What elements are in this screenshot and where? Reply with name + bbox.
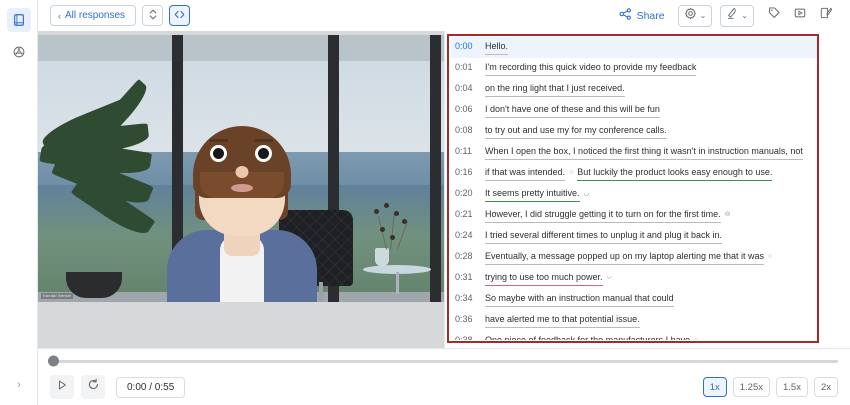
room-ceiling (38, 35, 445, 61)
transcript-timestamp: 0:34 (455, 293, 485, 303)
transcript-row[interactable]: 0:04on the ring light that I just receiv… (451, 79, 817, 100)
transcript-segment[interactable]: However, I did struggle getting it to tu… (485, 209, 721, 223)
prev-next-horizontal-button[interactable] (169, 5, 190, 26)
edit-icon (819, 6, 833, 25)
transcript-timestamp: 0:36 (455, 314, 485, 324)
speed-button-1.5x[interactable]: 1.5x (776, 377, 808, 397)
berry (384, 203, 389, 208)
transcript-segment[interactable]: trying to use too much power. (485, 272, 603, 286)
chair-leg (319, 282, 323, 302)
transcript-row[interactable]: 0:34So maybe with an instruction manual … (451, 289, 817, 310)
play-button[interactable] (50, 375, 74, 399)
transcript-row[interactable]: 0:31trying to use too much power.⌵ (451, 268, 817, 289)
avatar-brow-right (254, 139, 273, 142)
transcript-segment[interactable]: But luckily the product looks easy enoug… (577, 167, 772, 181)
transcript-segment[interactable]: have alerted me to that potential issue. (485, 314, 640, 328)
main-area: Kandai Sensei 0:00Hello.0:01I'm recordin… (38, 31, 850, 348)
transcript-row[interactable]: 0:06I don't have one of these and this w… (451, 100, 817, 121)
transcript-segment[interactable]: Eventually, a message popped up on my la… (485, 251, 764, 265)
video-canvas[interactable]: Kandai Sensei (38, 35, 445, 302)
app-root: › ‹ All responses (0, 0, 850, 405)
share-icon (619, 8, 632, 23)
sentiment-icon[interactable]: ⌵ (607, 274, 612, 282)
sentiment-icon[interactable]: ◡ (584, 189, 590, 197)
transcript-row[interactable]: 0:16if that was intended.○But luckily th… (451, 163, 817, 184)
transcript-text: When I open the box, I noticed the first… (485, 146, 803, 160)
left-rail: › (0, 0, 38, 405)
playback-speed-group: 1x1.25x1.5x2x (703, 377, 838, 397)
chevron-leftright-icon (173, 10, 186, 22)
settings-dropdown-button[interactable]: ⌄ (678, 5, 713, 27)
transcript-segment[interactable]: I'm recording this quick video to provid… (485, 62, 696, 76)
transcript-text: Eventually, a message popped up on my la… (485, 251, 772, 265)
sentiment-icon[interactable]: ○ (569, 169, 573, 176)
seek-handle[interactable] (48, 356, 59, 367)
transcript-text: So maybe with an instruction manual that… (485, 293, 674, 307)
transcript-row[interactable]: 0:11When I open the box, I noticed the f… (451, 142, 817, 163)
tag-button[interactable] (762, 5, 786, 27)
tag-icon (767, 6, 781, 25)
transcript-timestamp: 0:04 (455, 83, 485, 93)
clip-button[interactable] (788, 5, 812, 27)
notebook-icon (12, 13, 26, 27)
rail-collapse-button[interactable]: › (11, 377, 27, 393)
transcript-row[interactable]: 0:24I tried several different times to u… (451, 226, 817, 247)
transcript-text: if that was intended.○But luckily the pr… (485, 167, 772, 181)
transcript-text: However, I did struggle getting it to tu… (485, 209, 731, 223)
seek-row (50, 355, 838, 367)
transcript-row[interactable]: 0:01I'm recording this quick video to pr… (451, 58, 817, 79)
back-chevron-icon: ‹ (58, 11, 61, 21)
transcript-text: One piece of feedback for the manufactur… (485, 335, 698, 340)
transcript-text: I tried several different times to unplu… (485, 230, 722, 244)
window-mullion-3 (430, 35, 441, 302)
transcript-timestamp: 0:38 (455, 335, 485, 340)
transcript-segment[interactable]: Hello. (485, 41, 508, 55)
speed-button-2x[interactable]: 2x (814, 377, 838, 397)
transcript-row[interactable]: 0:38One piece of feedback for the manufa… (451, 331, 817, 340)
video-watermark: Kandai Sensei (41, 293, 73, 299)
seek-bar[interactable] (50, 360, 838, 363)
all-responses-label: All responses (65, 10, 125, 21)
transcript-timestamp: 0:31 (455, 272, 485, 282)
chevron-down-icon: ⌄ (700, 11, 707, 20)
transcript-row[interactable]: 0:36have alerted me to that potential is… (451, 310, 817, 331)
transcript-timestamp: 0:00 (455, 41, 485, 51)
speed-button-1x[interactable]: 1x (703, 377, 727, 397)
transcript-timestamp: 0:01 (455, 62, 485, 72)
transcript-text: I'm recording this quick video to provid… (485, 62, 696, 76)
sentiment-icon[interactable]: ⊖ (725, 210, 731, 218)
sentiment-icon[interactable]: ○ (768, 253, 772, 260)
transcript-row[interactable]: 0:28Eventually, a message popped up on m… (451, 247, 817, 268)
sidebar-item-media[interactable] (7, 40, 31, 64)
all-responses-button[interactable]: ‹ All responses (50, 5, 136, 26)
replay-icon (87, 378, 100, 396)
transcript-timestamp: 0:06 (455, 104, 485, 114)
speed-button-1.25x[interactable]: 1.25x (733, 377, 770, 397)
transcript-segment[interactable]: So maybe with an instruction manual that… (485, 293, 674, 307)
transcript-segment[interactable]: on the ring light that I just received. (485, 83, 625, 97)
transcript-row[interactable]: 0:08to try out and use my for my confere… (451, 121, 817, 142)
transcript-timestamp: 0:24 (455, 230, 485, 240)
transcript-text: on the ring light that I just received. (485, 83, 625, 97)
transcript-segment[interactable]: if that was intended. (485, 167, 565, 181)
berry (380, 227, 385, 232)
transcript-timestamp: 0:21 (455, 209, 485, 219)
highlighter-icon (726, 7, 738, 25)
transcript-row[interactable]: 0:20It seems pretty intuitive.◡ (451, 184, 817, 205)
edit-button[interactable] (814, 5, 838, 27)
plant-pot (66, 272, 122, 298)
gear-icon (684, 7, 697, 25)
transcript-segment[interactable]: It seems pretty intuitive. (485, 188, 580, 202)
transcript-segment[interactable]: One piece of feedback for the manufactur… (485, 335, 690, 340)
transcript-panel[interactable]: 0:00Hello.0:01I'm recording this quick v… (447, 31, 850, 348)
avatar-brow-left (209, 139, 228, 142)
replay-button[interactable] (81, 375, 105, 399)
transcript-segment[interactable]: When I open the box, I noticed the first… (485, 146, 803, 160)
transcript-text: trying to use too much power.⌵ (485, 272, 612, 286)
play-icon (56, 378, 68, 396)
transcript-timestamp: 0:11 (455, 146, 485, 156)
transcript-segment[interactable]: I don't have one of these and this will … (485, 104, 660, 118)
time-display: 0:00 / 0:55 (116, 377, 185, 398)
highlight-dropdown-button[interactable]: ⌄ (720, 5, 754, 27)
berry (374, 209, 379, 214)
transcript-timestamp: 0:20 (455, 188, 485, 198)
share-button[interactable]: Share (619, 8, 665, 23)
side-table-leg (396, 272, 399, 294)
transcript-segment[interactable]: to try out and use my for my conference … (485, 125, 667, 139)
vase (375, 248, 389, 266)
avatar-pupil-left (213, 148, 224, 159)
share-label: Share (637, 10, 665, 22)
film-reel-icon (12, 45, 26, 59)
transcript-timestamp: 0:08 (455, 125, 485, 135)
transcript-text: I don't have one of these and this will … (485, 104, 660, 118)
transcript-text: Hello. (485, 41, 508, 55)
transcript-segment[interactable]: I tried several different times to unplu… (485, 230, 722, 244)
berry (390, 235, 395, 240)
berry (394, 211, 399, 216)
sentiment-icon[interactable]: ○ (694, 337, 698, 340)
avatar-mouth (231, 184, 253, 192)
video-pane[interactable]: Kandai Sensei (38, 31, 445, 348)
transcript-text: to try out and use my for my conference … (485, 125, 667, 139)
player-bar: 0:00 / 0:55 1x1.25x1.5x2x (38, 348, 850, 405)
transcript-row[interactable]: 0:21However, I did struggle getting it t… (451, 205, 817, 226)
chevron-updown-icon (149, 8, 157, 24)
transcript-text: have alerted me to that potential issue. (485, 314, 640, 328)
transcript-list[interactable]: 0:00Hello.0:01I'm recording this quick v… (451, 37, 817, 340)
prev-next-vertical-button[interactable] (142, 5, 163, 26)
avatar-pupil-right (258, 148, 269, 159)
transcript-row[interactable]: 0:00Hello. (451, 37, 817, 58)
top-toolbar: ‹ All responses (38, 0, 850, 31)
avatar-nose (235, 166, 248, 178)
sidebar-item-notebook[interactable] (7, 8, 31, 32)
transcript-text: It seems pretty intuitive.◡ (485, 188, 590, 202)
transcript-timestamp: 0:16 (455, 167, 485, 177)
chevron-down-icon-2: ⌄ (741, 11, 748, 20)
berry (402, 219, 407, 224)
player-controls: 0:00 / 0:55 1x1.25x1.5x2x (50, 371, 838, 403)
transcript-timestamp: 0:28 (455, 251, 485, 261)
clip-icon (793, 6, 807, 25)
